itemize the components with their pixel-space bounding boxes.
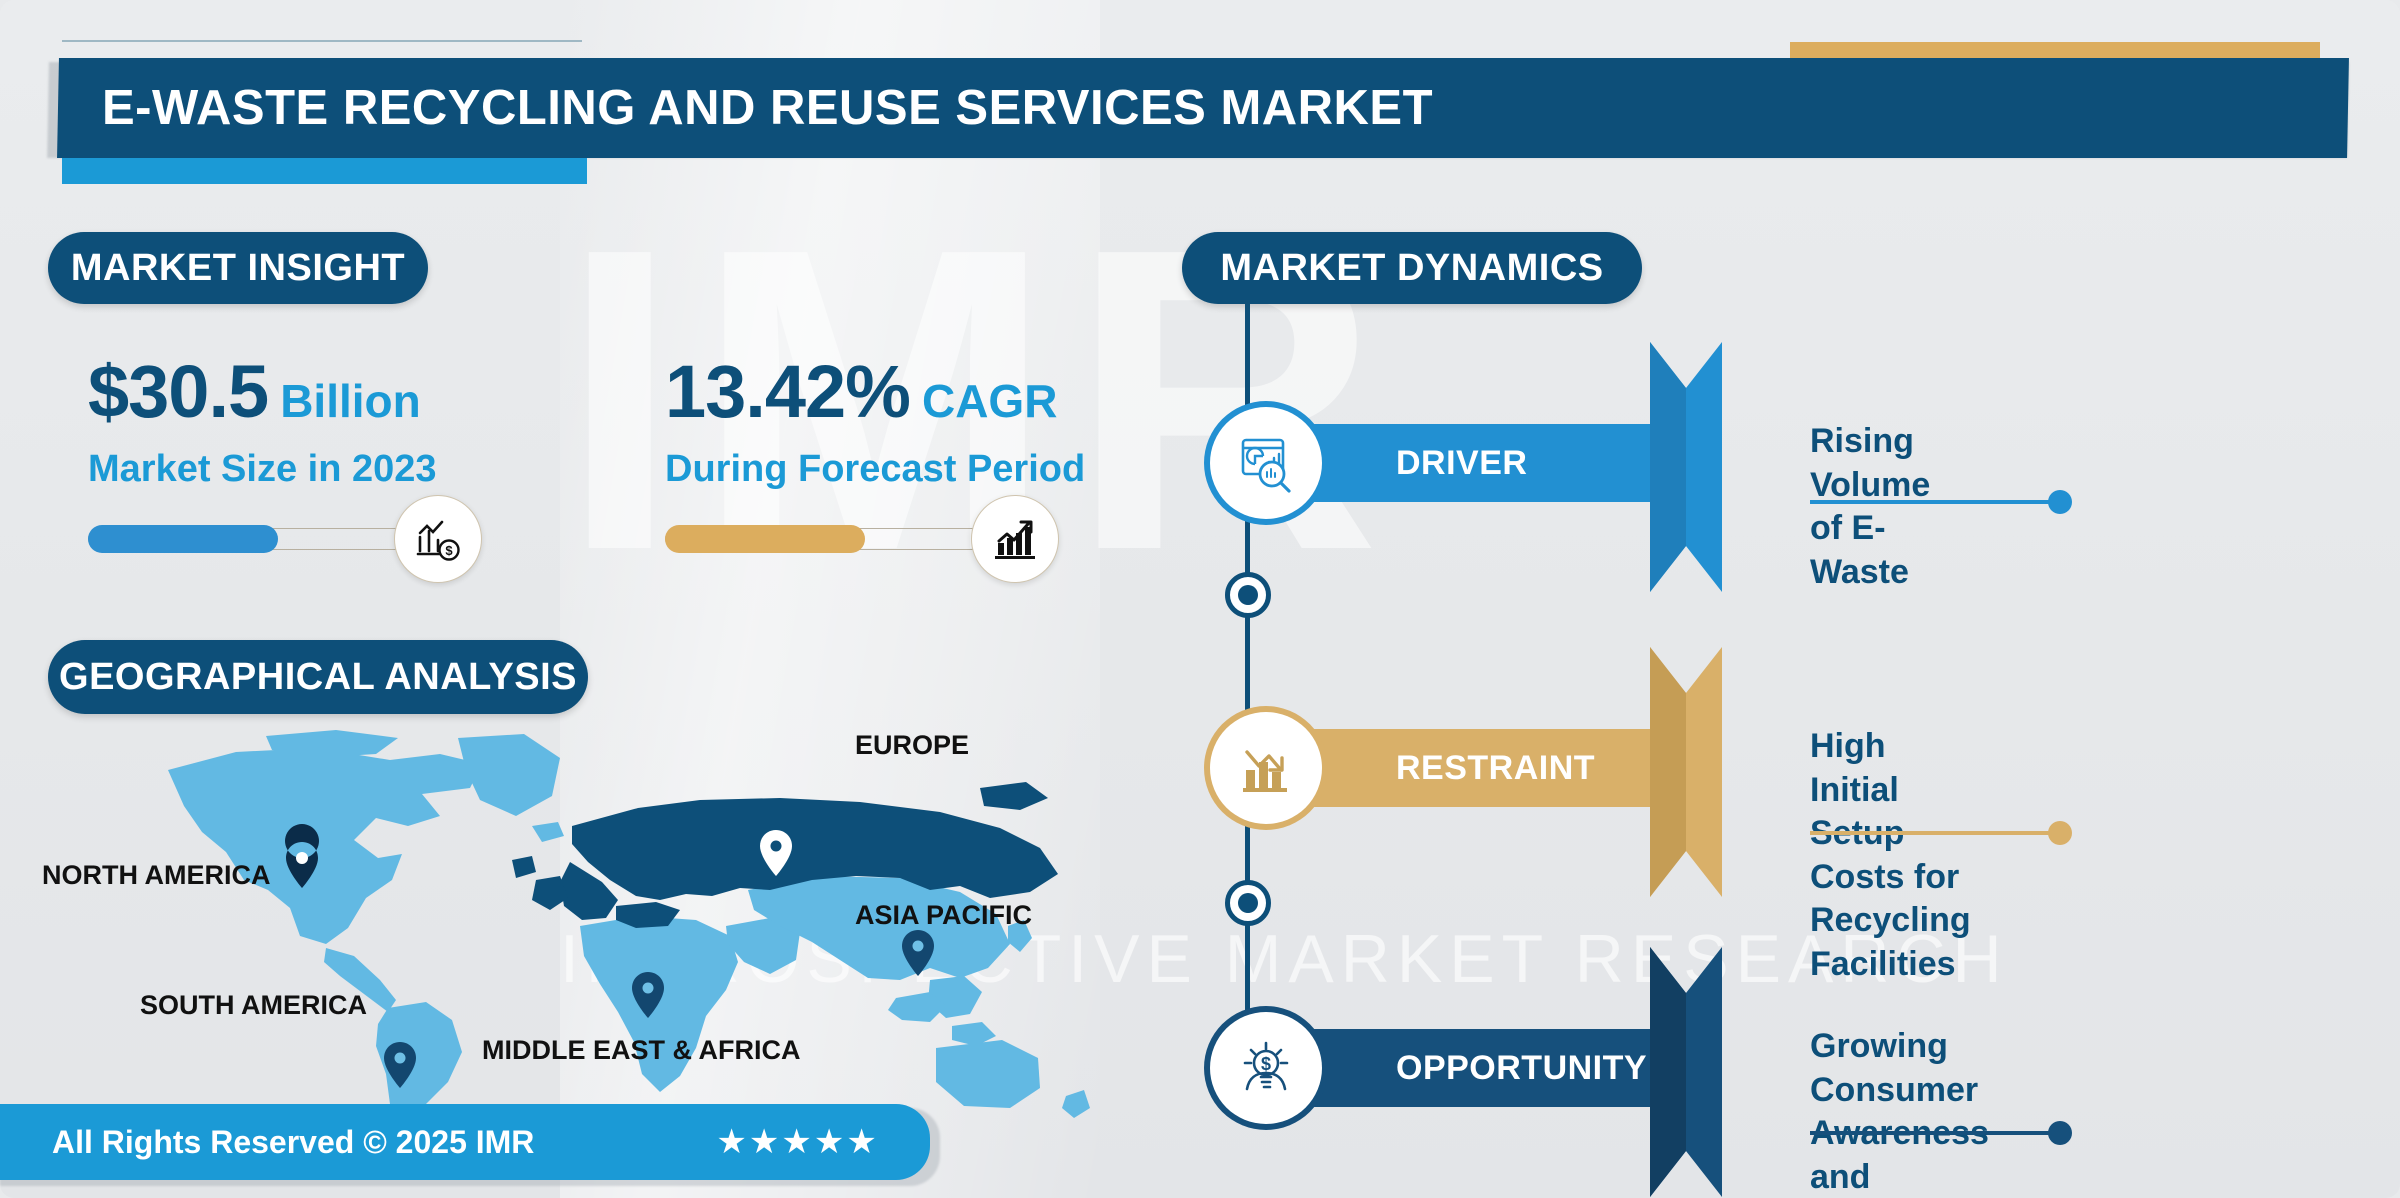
opportunity-text: Growing Consumer Awareness and Corporate… (1810, 1025, 2031, 1198)
lightbulb-dollar-icon: $ (1210, 1012, 1322, 1124)
footer-bar: All Rights Reserved © 2025 IMR ★★★★★ (0, 1104, 930, 1180)
dashboard-analysis-icon (1210, 407, 1322, 519)
header-banner: E-WASTE RECYCLING AND REUSE SERVICES MAR… (57, 58, 2349, 158)
svg-text:$: $ (1261, 1054, 1271, 1074)
opportunity-endpoint-dot (2048, 1121, 2072, 1145)
timeline-node-1 (1225, 572, 1271, 618)
region-label-asia-pacific: ASIA PACIFIC (855, 900, 1032, 931)
header-thin-rule (62, 40, 582, 42)
region-label-north-america: NORTH AMERICA (42, 860, 271, 891)
stat-value-row: $30.5Billion (88, 355, 437, 429)
header-blue-stripe (62, 158, 587, 184)
restraint-text: High Initial Setup Costs for Recycling F… (1810, 725, 1971, 986)
timeline-node-2 (1225, 880, 1271, 926)
stat-unit: CAGR (922, 375, 1057, 427)
star-rating-icon: ★★★★★ (716, 1122, 878, 1162)
growth-chart-arrow-icon (971, 495, 1059, 583)
stat-value: 13.42% (665, 350, 910, 433)
stat-unit: Billion (280, 375, 421, 427)
region-label-europe: EUROPE (855, 730, 969, 761)
restraint-label: RESTRAINT (1396, 729, 1595, 807)
svg-text:$: $ (445, 543, 453, 558)
progress-fill (88, 525, 278, 553)
stat-progress (665, 517, 1005, 561)
stat-caption: Market Size in 2023 (88, 448, 437, 491)
driver-connector (1810, 500, 2060, 504)
stat-value-row: 13.42%CAGR (665, 355, 1085, 429)
driver-label: DRIVER (1396, 424, 1527, 502)
driver-endpoint-dot (2048, 490, 2072, 514)
region-label-south-america: SOUTH AMERICA (140, 990, 367, 1021)
stat-market-size: $30.5Billion Market Size in 2023 $ (88, 355, 437, 561)
progress-fill (665, 525, 865, 553)
bar-chart-dollar-icon: $ (394, 495, 482, 583)
opportunity-connector (1810, 1131, 2060, 1135)
infographic-page: IMR INTROSPECTIVE MARKET RESEARCH E-WAST… (0, 0, 2400, 1198)
page-title: E-WASTE RECYCLING AND REUSE SERVICES MAR… (102, 80, 1433, 136)
stat-value: $30.5 (88, 350, 268, 433)
restraint-ribbon (1650, 647, 1722, 897)
copyright-text: All Rights Reserved © 2025 IMR (52, 1124, 534, 1161)
restraint-endpoint-dot (2048, 821, 2072, 845)
driver-text: Rising Volume of E-Waste (1810, 420, 1930, 594)
declining-bar-chart-icon (1210, 712, 1322, 824)
opportunity-ribbon (1650, 947, 1722, 1197)
opportunity-label: OPPORTUNITY (1396, 1029, 1647, 1107)
restraint-connector (1810, 831, 2060, 835)
region-label-middle-east-africa: MIDDLE EAST & AFRICA (482, 1035, 801, 1066)
stat-cagr: 13.42%CAGR During Forecast Period (665, 355, 1085, 561)
stat-caption: During Forecast Period (665, 448, 1085, 491)
badge-market-dynamics: MARKET DYNAMICS (1182, 232, 1642, 304)
badge-market-insight: MARKET INSIGHT (48, 232, 428, 304)
driver-ribbon (1650, 342, 1722, 592)
badge-geographical-analysis: GEOGRAPHICAL ANALYSIS (48, 640, 588, 714)
stat-progress: $ (88, 517, 428, 561)
